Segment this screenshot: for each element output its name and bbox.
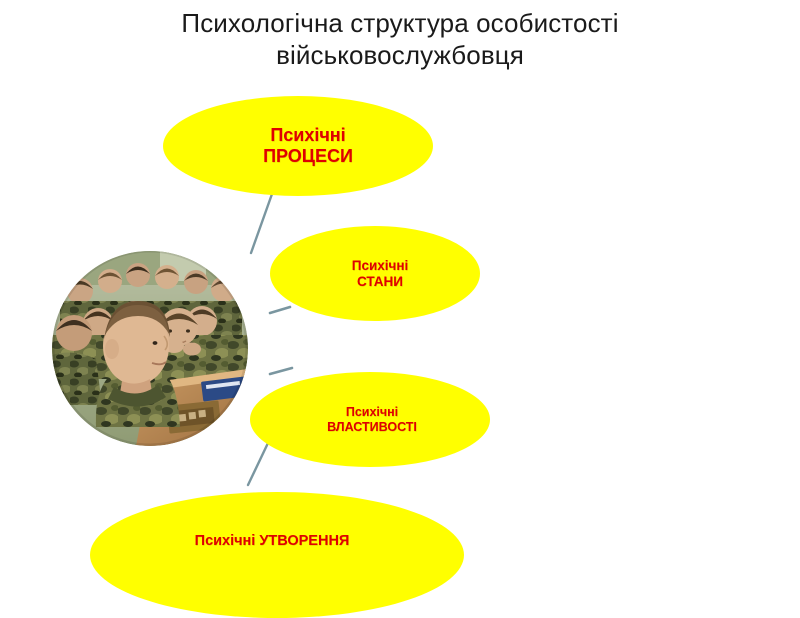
connector-properties-formations [248,443,268,485]
node-psychic-processes[interactable]: Психічні ПРОЦЕСИ [163,96,433,196]
node-psychic-formations-label: Психічні УТВОРЕННЯ [195,533,350,550]
node-psychic-processes-label: Психічні ПРОЦЕСИ [263,125,353,167]
page-title: Психологічна структура особистості війсь… [95,8,705,71]
page-title-line-2: військовослужбовця [95,40,705,72]
connector-processes-states [251,194,272,253]
node-psychic-formations[interactable]: Психічні УТВОРЕННЯ [90,492,464,618]
node-psychic-states-label: Психічні СТАНИ [352,258,409,290]
slide-canvas: Психологічна структура особистості війсь… [0,0,800,600]
node-psychic-properties-label: Психічні ВЛАСТИВОСТІ [327,405,417,435]
node-psychic-states[interactable]: Психічні СТАНИ [270,226,480,321]
page-title-line-1: Психологічна структура особистості [95,8,705,40]
soldiers-classroom-photo [52,251,248,446]
connector-states-properties-upper [270,307,290,313]
node-psychic-properties[interactable]: Психічні ВЛАСТИВОСТІ [250,372,490,467]
connector-states-properties-lower [270,368,292,374]
